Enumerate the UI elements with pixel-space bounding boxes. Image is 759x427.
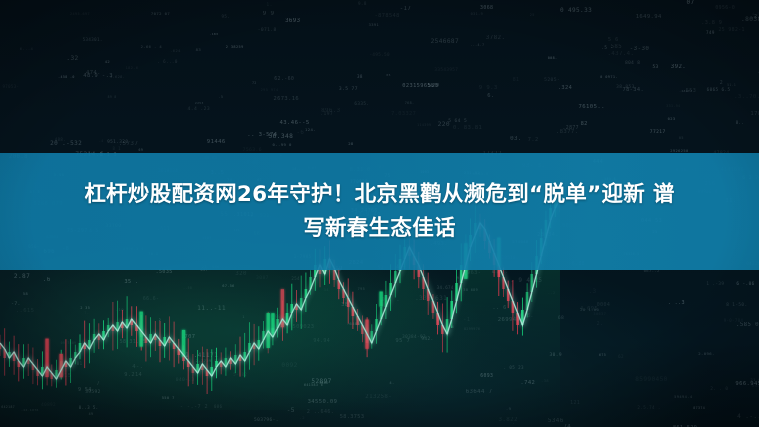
headline-banner: 杠杆炒股配资网26年守护！北京黑鹳从濒危到“脱单”迎新 谱 写新春生态佳话 [0,153,759,270]
headline-text: 杠杆炒股配资网26年守护！北京黑鹳从濒危到“脱单”迎新 谱 写新春生态佳话 [84,178,674,246]
headline-line-1: 杠杆炒股配资网26年守护！北京黑鹳从濒危到“脱单”迎新 谱 [84,182,674,207]
headline-line-2: 写新春生态佳话 [84,212,674,246]
hero-banner-image: 671915 7.2 .6831978-34. 34.24766804 8114… [0,0,759,427]
